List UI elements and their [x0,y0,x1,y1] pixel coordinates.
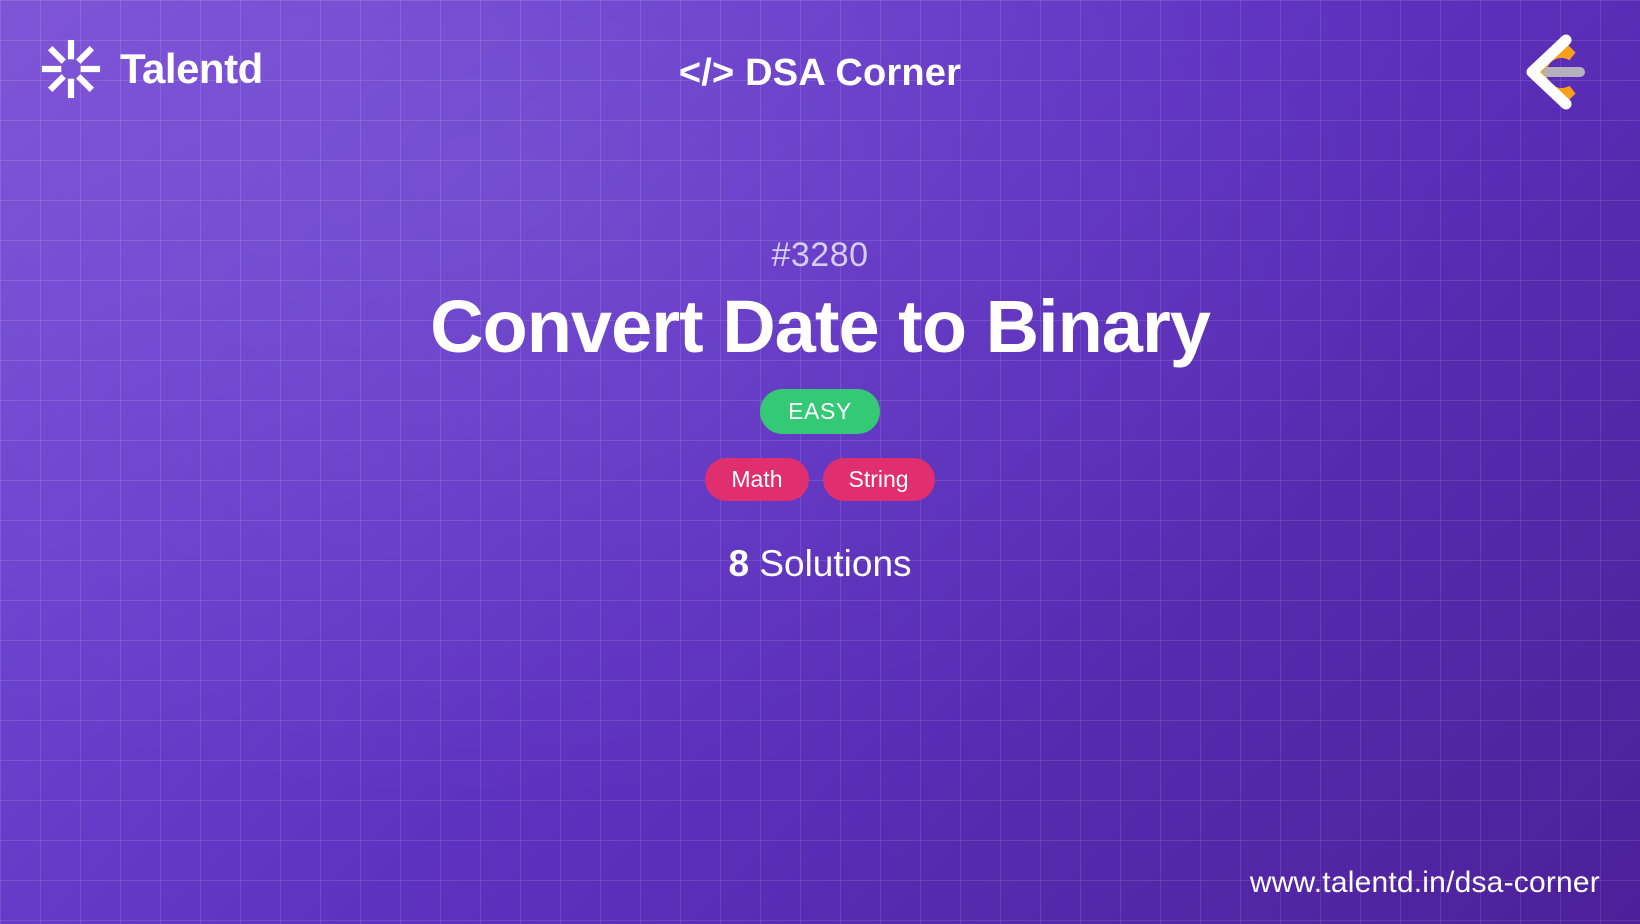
solutions-count: 8 [728,543,749,584]
tag-list: Math String [705,458,934,501]
problem-title: Convert Date to Binary [430,287,1210,367]
page-title: </> DSA Corner [0,52,1640,95]
header: Talentd </> DSA Corner [0,0,1640,152]
tag-chip[interactable]: String [823,458,935,501]
footer-url[interactable]: www.talentd.in/dsa-corner [1250,866,1600,900]
tag-chip[interactable]: Math [705,458,808,501]
solutions-count-text: 8 Solutions [728,543,911,585]
main-content: #3280 Convert Date to Binary EASY Math S… [0,236,1640,585]
difficulty-badge: EASY [760,389,880,434]
solutions-label: Solutions [759,543,911,584]
problem-number: #3280 [771,236,868,275]
